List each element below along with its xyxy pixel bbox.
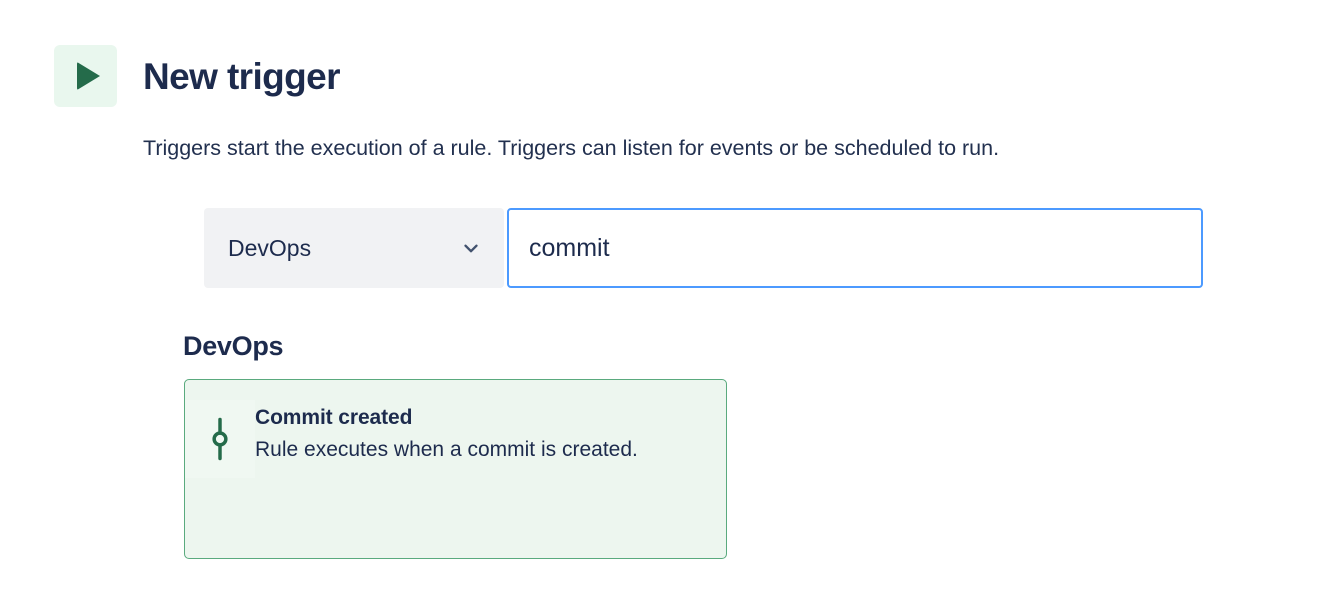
category-dropdown[interactable]: DevOps — [204, 208, 504, 288]
new-trigger-panel: New trigger Triggers start the execution… — [0, 0, 1336, 598]
page-title: New trigger — [143, 58, 340, 95]
play-triangle-glyph — [77, 62, 100, 90]
trigger-result-text: Commit created Rule executes when a comm… — [255, 380, 654, 465]
page-description: Triggers start the execution of a rule. … — [143, 134, 999, 163]
trigger-result-title: Commit created — [255, 404, 638, 431]
trigger-search-row: DevOps — [204, 208, 1203, 288]
category-dropdown-label: DevOps — [228, 237, 311, 260]
results-group-heading: DevOps — [183, 330, 283, 362]
trigger-result-card[interactable]: Commit created Rule executes when a comm… — [184, 379, 727, 559]
search-input[interactable] — [529, 233, 1181, 263]
commit-node-glyph — [207, 417, 233, 461]
search-input-wrapper[interactable] — [507, 208, 1203, 288]
play-triangle-icon — [54, 45, 117, 107]
trigger-result-description: Rule executes when a commit is created. — [255, 435, 638, 465]
commit-node-icon — [185, 400, 255, 478]
panel-header: New trigger — [54, 45, 340, 107]
chevron-down-icon — [460, 237, 482, 259]
